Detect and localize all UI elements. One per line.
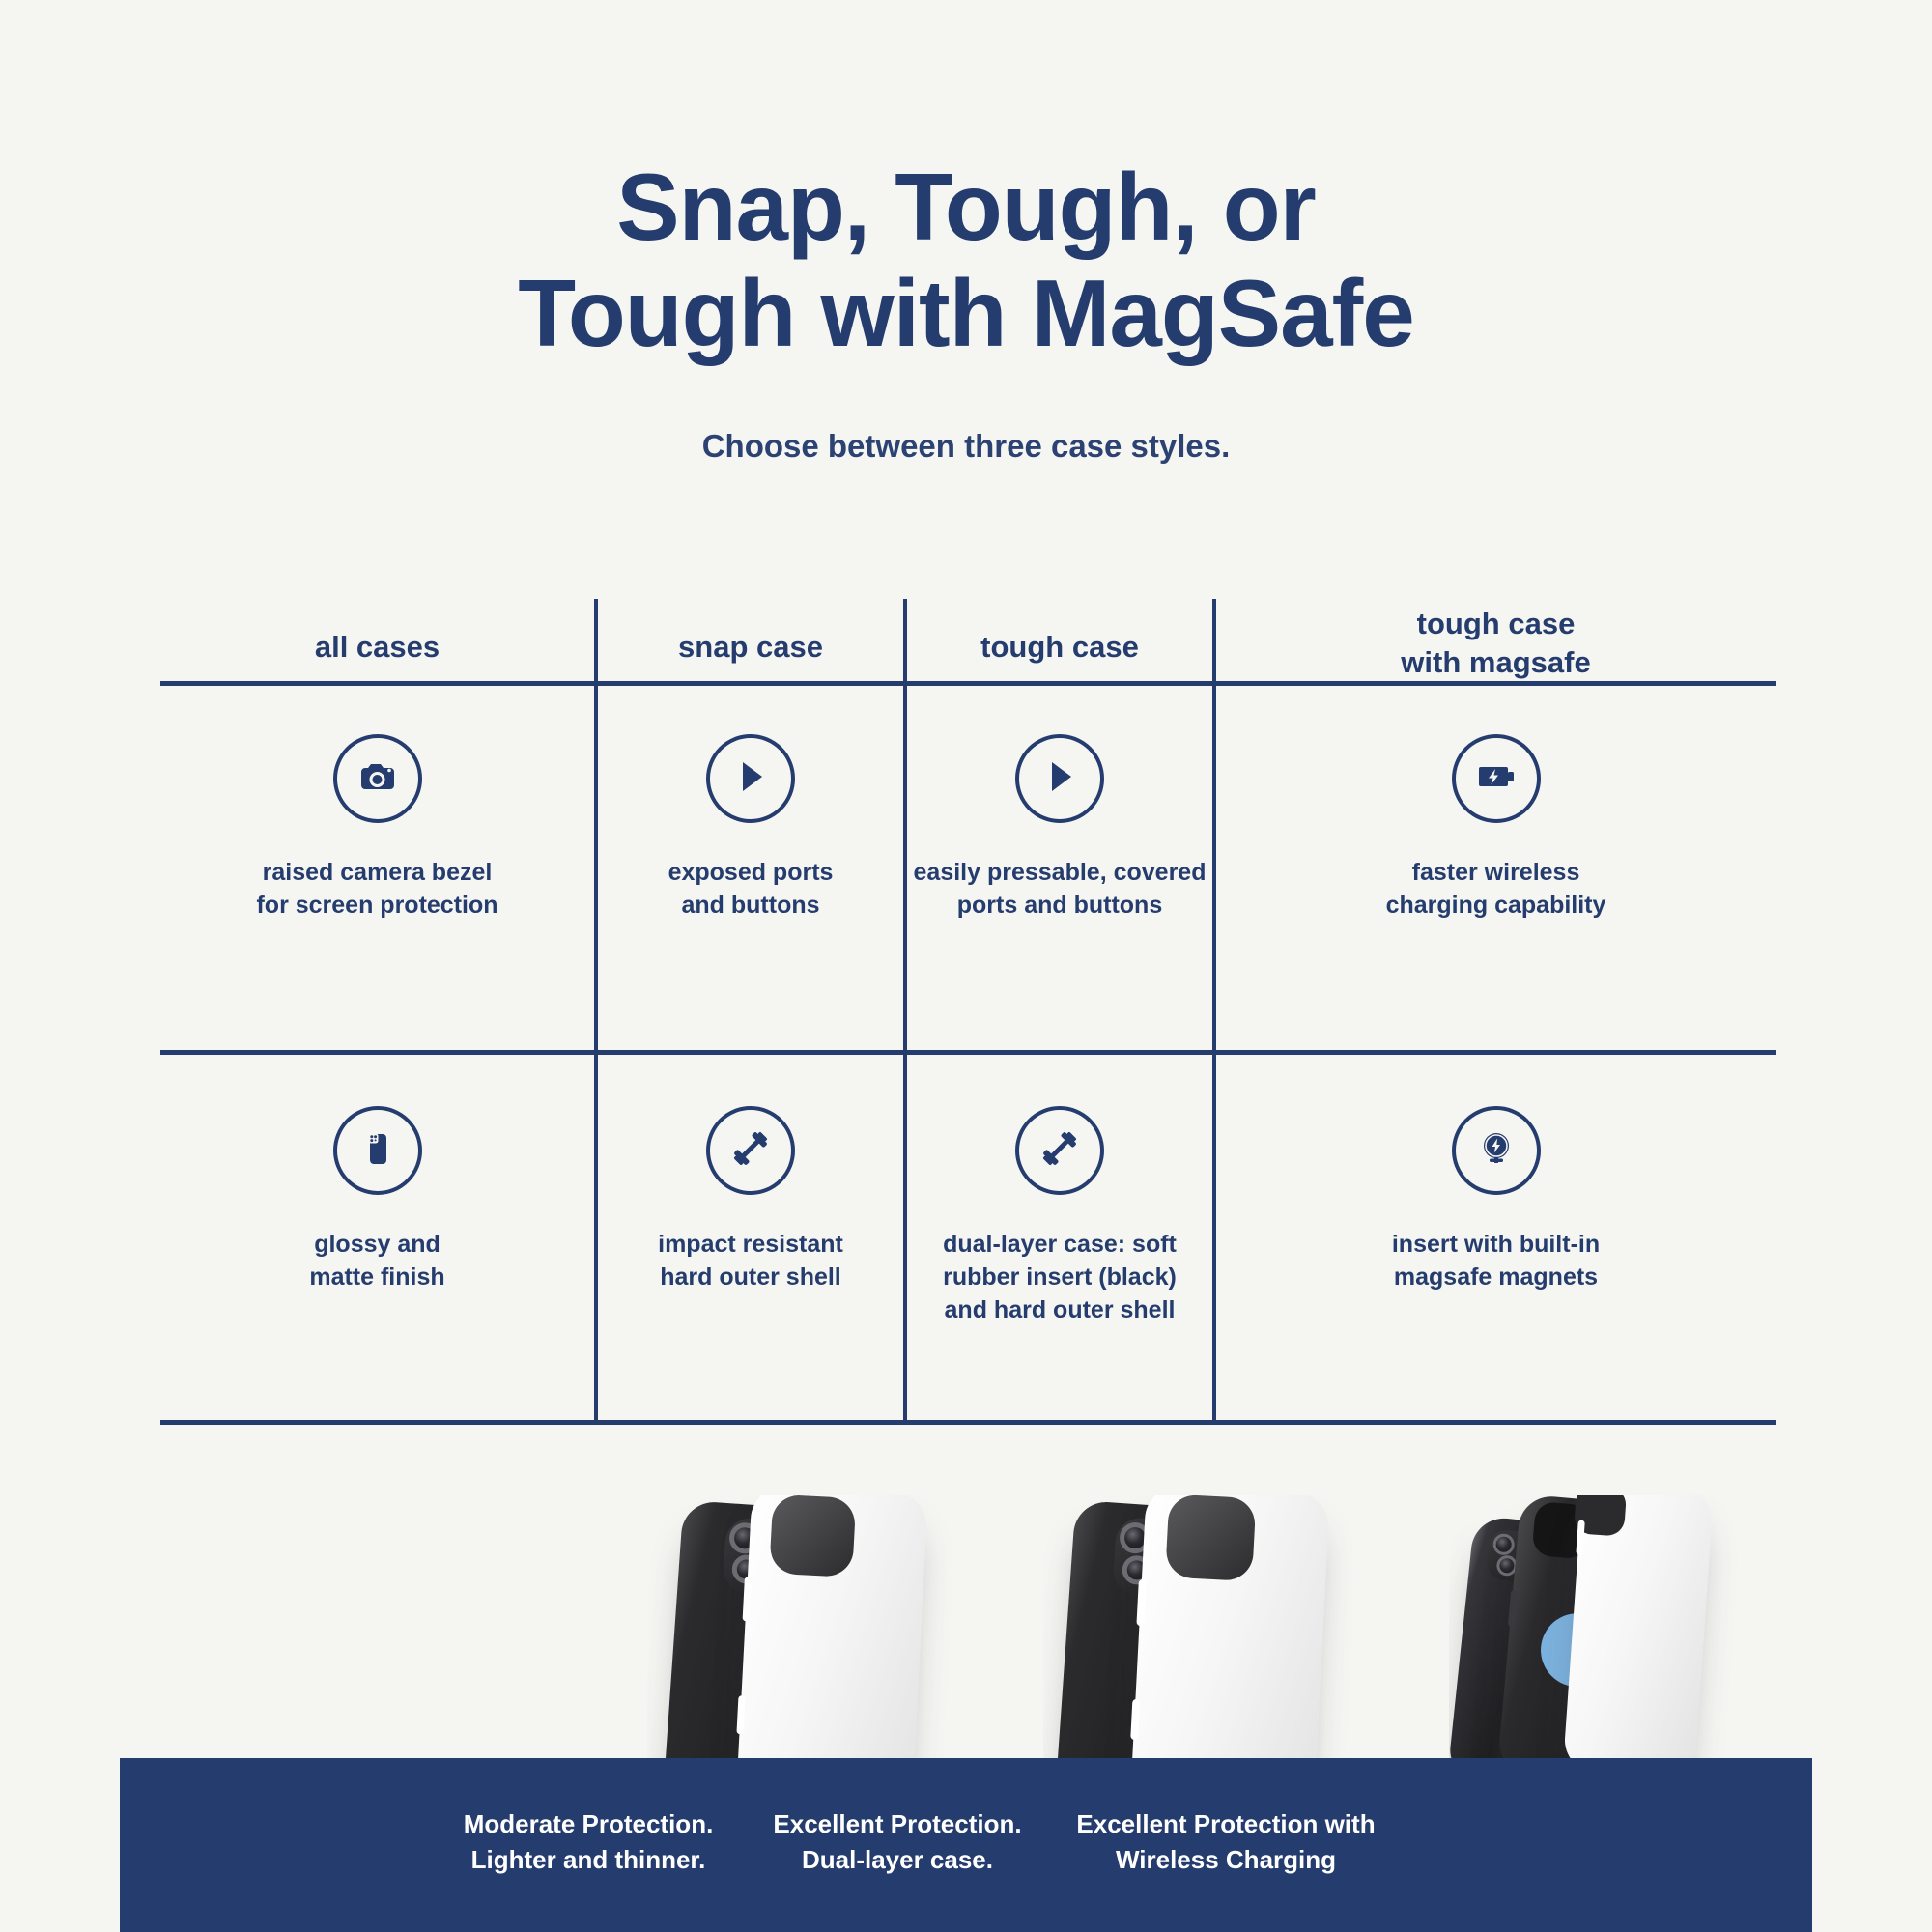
column-header-line-1: snap case bbox=[598, 628, 903, 667]
cell-text: insert with built-in magsafe magnets bbox=[1216, 1228, 1776, 1293]
column-header-tough-case: tough case bbox=[907, 628, 1212, 667]
cell-text: exposed ports and buttons bbox=[598, 856, 903, 922]
column-header-tough-case-magsafe: tough case with magsafe bbox=[1216, 605, 1776, 683]
play-triangle-icon bbox=[1039, 756, 1080, 802]
page-title: Snap, Tough, or Tough with MagSafe bbox=[0, 155, 1932, 367]
battery-charging-icon bbox=[1472, 753, 1520, 806]
table-cell-r2c2: impact resistant hard outer shell bbox=[598, 1106, 903, 1293]
icon-circle bbox=[1015, 734, 1104, 823]
camera-icon bbox=[355, 753, 401, 805]
cell-text-line-1: impact resistant bbox=[598, 1228, 903, 1261]
magsafe-puck-icon bbox=[1472, 1124, 1520, 1178]
phone-back-icon bbox=[356, 1127, 399, 1175]
table-cell-r1c2: exposed ports and buttons bbox=[598, 734, 903, 922]
dumbbell-icon bbox=[1037, 1126, 1082, 1176]
icon-circle bbox=[706, 734, 795, 823]
dumbbell-icon bbox=[728, 1126, 773, 1176]
cell-text-line-2: hard outer shell bbox=[598, 1261, 903, 1293]
icon-circle bbox=[1015, 1106, 1104, 1195]
band-text-line-2: Dual-layer case. bbox=[743, 1842, 1052, 1878]
column-header-all-cases: all cases bbox=[160, 628, 594, 667]
icon-circle bbox=[706, 1106, 795, 1195]
icon-circle bbox=[1452, 734, 1541, 823]
side-button-cutout bbox=[743, 1577, 752, 1621]
cell-text-line-1: faster wireless bbox=[1216, 856, 1776, 889]
cell-text: impact resistant hard outer shell bbox=[598, 1228, 903, 1293]
column-header-line-1: tough case bbox=[907, 628, 1212, 667]
cell-text-line-2: magsafe magnets bbox=[1216, 1261, 1776, 1293]
table-rule-middle bbox=[160, 1050, 1776, 1055]
table-divider-1 bbox=[594, 599, 598, 1420]
cell-text-line-1: exposed ports bbox=[598, 856, 903, 889]
table-cell-r2c3: dual-layer case: soft rubber insert (bla… bbox=[907, 1106, 1212, 1326]
cell-text-line-2: ports and buttons bbox=[886, 889, 1234, 922]
camera-lens bbox=[1492, 1533, 1516, 1556]
cell-text-line-1: raised camera bezel bbox=[160, 856, 594, 889]
comparison-table: all cases snap case tough case tough cas… bbox=[160, 580, 1776, 1468]
side-button-cutout bbox=[736, 1695, 745, 1734]
cell-text: dual-layer case: soft rubber insert (bla… bbox=[895, 1228, 1224, 1326]
tough-magsafe-shell-white bbox=[1563, 1495, 1715, 1779]
icon-circle bbox=[333, 1106, 422, 1195]
band-text-line-1: Excellent Protection. bbox=[743, 1806, 1052, 1842]
cell-text: glossy and matte finish bbox=[160, 1228, 594, 1293]
band-text-line-2: Lighter and thinner. bbox=[434, 1842, 743, 1878]
cell-text: faster wireless charging capability bbox=[1216, 856, 1776, 922]
cell-text-line-2: charging capability bbox=[1216, 889, 1776, 922]
band-text-line-1: Moderate Protection. bbox=[434, 1806, 743, 1842]
cell-text-line-2: and buttons bbox=[598, 889, 903, 922]
cell-text-line-1: glossy and bbox=[160, 1228, 594, 1261]
title-line-1: Snap, Tough, or bbox=[616, 154, 1316, 260]
band-text-line-2: Wireless Charging bbox=[1052, 1842, 1400, 1878]
cell-text: raised camera bezel for screen protectio… bbox=[160, 856, 594, 922]
camera-cutout bbox=[1165, 1495, 1256, 1581]
table-rule-bottom bbox=[160, 1420, 1776, 1425]
band-column-snap: Moderate Protection. Lighter and thinner… bbox=[434, 1806, 743, 1878]
table-cell-r1c3: easily pressable, covered ports and butt… bbox=[907, 734, 1212, 922]
column-header-snap-case: snap case bbox=[598, 628, 903, 667]
page-subtitle: Choose between three case styles. bbox=[0, 428, 1932, 465]
band-column-tough-magsafe: Excellent Protection with Wireless Charg… bbox=[1052, 1806, 1400, 1878]
band-column-tough: Excellent Protection. Dual-layer case. bbox=[743, 1806, 1052, 1878]
title-line-2: Tough with MagSafe bbox=[0, 261, 1932, 367]
table-cell-r1c1: raised camera bezel for screen protectio… bbox=[160, 734, 594, 922]
icon-circle bbox=[1452, 1106, 1541, 1195]
cell-text-line-2: for screen protection bbox=[160, 889, 594, 922]
icon-circle bbox=[333, 734, 422, 823]
side-button-cover bbox=[1576, 1520, 1584, 1554]
camera-cutout bbox=[769, 1495, 856, 1577]
cell-text-line-1: dual-layer case: soft bbox=[895, 1228, 1224, 1261]
column-header-line-2: with magsafe bbox=[1216, 643, 1776, 682]
protection-summary-band: Moderate Protection. Lighter and thinner… bbox=[120, 1758, 1812, 1932]
play-triangle-icon bbox=[730, 756, 771, 802]
table-cell-r2c4: insert with built-in magsafe magnets bbox=[1216, 1106, 1776, 1293]
side-button-cover bbox=[1130, 1699, 1140, 1740]
cell-text-line-1: easily pressable, covered bbox=[886, 856, 1234, 889]
cell-text-line-1: insert with built-in bbox=[1216, 1228, 1776, 1261]
cell-text-line-3: and hard outer shell bbox=[895, 1293, 1224, 1326]
side-button-cover bbox=[1136, 1579, 1147, 1626]
band-text-line-1: Excellent Protection with bbox=[1052, 1806, 1400, 1842]
column-header-line-1: all cases bbox=[160, 628, 594, 667]
column-header-line-1: tough case bbox=[1216, 605, 1776, 643]
cell-text: easily pressable, covered ports and butt… bbox=[886, 856, 1234, 922]
table-cell-r1c4: faster wireless charging capability bbox=[1216, 734, 1776, 922]
page-root: Snap, Tough, or Tough with MagSafe Choos… bbox=[0, 0, 1932, 1932]
cell-text-line-2: rubber insert (black) bbox=[895, 1261, 1224, 1293]
cell-text-line-2: matte finish bbox=[160, 1261, 594, 1293]
table-cell-r2c1: glossy and matte finish bbox=[160, 1106, 594, 1293]
